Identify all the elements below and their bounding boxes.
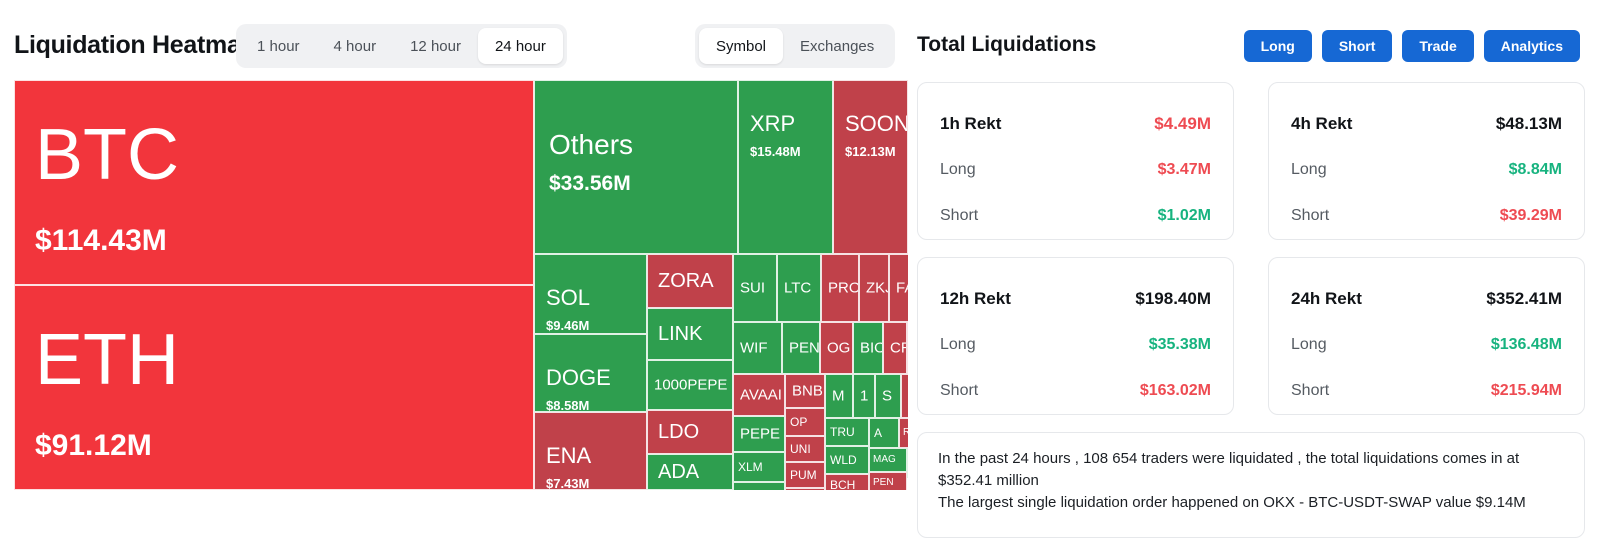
timeframe-selector[interactable]: 1 hour4 hour12 hour24 hour xyxy=(236,24,567,68)
treemap-tile-bch[interactable]: BCH xyxy=(825,474,869,490)
treemap-tile-label: ETH xyxy=(15,324,533,396)
treemap-tile-link[interactable]: LINK xyxy=(647,308,733,360)
treemap-tile-op[interactable]: OP xyxy=(785,408,825,436)
treemap-tile-value: $9.46M xyxy=(535,319,646,332)
treemap-tile-eth[interactable]: ETH$91.12M xyxy=(14,285,534,490)
rekt-card-4h-rekt: 4h Rekt$48.13MLong$8.84MShort$39.29M xyxy=(1268,82,1585,240)
treemap-tile-label: 1 xyxy=(854,389,874,404)
treemap-tile-label: ZKJ xyxy=(860,281,888,296)
stat-row: Long$3.47M xyxy=(940,147,1211,193)
treemap-tile-sw[interactable]: SW xyxy=(907,322,908,374)
treemap-tile-label: ADA xyxy=(648,462,732,482)
long-value: $136.48M xyxy=(1491,336,1562,354)
treemap-tile-mag[interactable]: MAG xyxy=(869,448,907,472)
treemap-tile-label: PEPE xyxy=(734,427,784,442)
treemap-tile-ada[interactable]: ADA xyxy=(647,454,733,490)
short-value: $215.94M xyxy=(1491,382,1562,400)
long-value: $35.38M xyxy=(1149,336,1211,354)
mode-option-exchanges[interactable]: Exchanges xyxy=(783,28,891,64)
rekt-period-label: 4h Rekt xyxy=(1291,114,1352,134)
liquidation-heatmap-page: Liquidation Heatmap 1 hour4 hour12 hour2… xyxy=(0,0,1600,559)
liquidation-summary-card: In the past 24 hours , 108 654 traders w… xyxy=(917,432,1585,538)
treemap-tile-zkj[interactable]: ZKJ xyxy=(859,254,889,322)
treemap-tile-far[interactable]: FAR xyxy=(889,254,908,322)
treemap-tile-zora[interactable]: ZORA xyxy=(647,254,733,308)
treemap-tile-label: 1000PEPE xyxy=(648,378,732,393)
treemap-tile-1[interactable]: 1 xyxy=(853,374,875,418)
page-title: Liquidation Heatmap xyxy=(14,31,256,60)
treemap-tile-label: LDO xyxy=(648,422,732,442)
treemap-tile-m[interactable]: M xyxy=(825,374,853,418)
short-label: Short xyxy=(1291,207,1329,225)
treemap-tile-label: TRU xyxy=(826,426,868,438)
treemap-tile-value: $91.12M xyxy=(15,431,533,461)
treemap-tile-ldo[interactable]: LDO xyxy=(647,410,733,454)
treemap-tile-1000pepe[interactable]: 1000PEPE xyxy=(647,360,733,410)
rekt-total-value: $198.40M xyxy=(1135,289,1211,309)
treemap-tile-label: DOGE xyxy=(535,367,646,389)
rekt-total-value: $48.13M xyxy=(1496,114,1562,134)
page-header: Liquidation Heatmap 1 hour4 hour12 hour2… xyxy=(0,0,1600,78)
treemap-tile-avaai[interactable]: AVAAI xyxy=(733,374,785,416)
short-value: $1.02M xyxy=(1158,207,1211,225)
treemap-tile-pum[interactable]: PUM xyxy=(785,462,825,488)
treemap-tile-label: XRP xyxy=(739,113,832,135)
treemap-tile-value: $15.48M xyxy=(739,145,832,158)
treemap-tile-zro[interactable]: ZRO xyxy=(785,488,825,490)
summary-line-2: The largest single liquidation order hap… xyxy=(938,492,1564,514)
summary-line-1: In the past 24 hours , 108 654 traders w… xyxy=(938,448,1564,492)
total-liquidations-title: Total Liquidations xyxy=(917,33,1096,57)
treemap-tile-label: OG xyxy=(821,341,852,356)
stat-row: 24h Rekt$352.41M xyxy=(1291,276,1562,322)
stat-row: Long$136.48M xyxy=(1291,322,1562,368)
treemap-tile-pro[interactable]: PRO xyxy=(821,254,859,322)
treemap-tile-ltc[interactable]: LTC xyxy=(777,254,821,322)
treemap-tile-s[interactable]: S xyxy=(875,374,901,418)
treemap-tile-label: S xyxy=(876,389,900,404)
treemap-tile-value: $33.56M xyxy=(535,173,737,194)
stat-row: 12h Rekt$198.40M xyxy=(940,276,1211,322)
treemap-tile-label: SUI xyxy=(734,281,776,296)
timeframe-option-1-hour[interactable]: 1 hour xyxy=(240,28,317,64)
rekt-period-label: 1h Rekt xyxy=(940,114,1001,134)
treemap-tile-d[interactable]: D xyxy=(901,374,908,418)
treemap-tile-avax[interactable]: AVAX xyxy=(733,482,785,490)
rekt-card-1h-rekt: 1h Rekt$4.49MLong$3.47MShort$1.02M xyxy=(917,82,1234,240)
treemap-tile-wif[interactable]: WIF xyxy=(733,322,782,374)
treemap-tile-label: PEN xyxy=(870,478,906,488)
trade-button[interactable]: Trade xyxy=(1402,30,1473,62)
treemap-tile-label: WLD xyxy=(826,454,868,466)
short-label: Short xyxy=(940,207,978,225)
long-label: Long xyxy=(1291,161,1327,179)
treemap-tile-label: SOON xyxy=(834,113,907,135)
treemap-tile-label: BTC xyxy=(15,119,533,191)
mode-option-symbol[interactable]: Symbol xyxy=(699,28,783,64)
treemap-tile-label: Others xyxy=(535,131,737,159)
short-button[interactable]: Short xyxy=(1322,30,1393,62)
treemap-tile-label: ZORA xyxy=(648,271,732,291)
rekt-period-label: 12h Rekt xyxy=(940,289,1011,309)
treemap-tile-xrp[interactable]: XRP$15.48M xyxy=(738,80,833,254)
treemap-tile-sui[interactable]: SUI xyxy=(733,254,777,322)
treemap-tile-label: CRV xyxy=(884,341,906,356)
liquidation-treemap[interactable]: BTC$114.43METH$91.12MOthers$33.56MXRP$15… xyxy=(14,80,908,490)
treemap-tile-crv[interactable]: CRV xyxy=(883,322,907,374)
treemap-tile-label: BCH xyxy=(826,479,868,490)
treemap-tile-label: R xyxy=(900,428,908,438)
long-value: $3.47M xyxy=(1158,161,1211,179)
long-label: Long xyxy=(940,161,976,179)
timeframe-option-12-hour[interactable]: 12 hour xyxy=(393,28,478,64)
treemap-tile-r[interactable]: R xyxy=(899,418,908,448)
long-button[interactable]: Long xyxy=(1244,30,1312,62)
treemap-tile-label: PEN xyxy=(783,341,819,356)
treemap-tile-label: AVAAI xyxy=(734,388,784,403)
analytics-button[interactable]: Analytics xyxy=(1484,30,1580,62)
treemap-tile-label: WIF xyxy=(734,341,781,356)
rekt-card-12h-rekt: 12h Rekt$198.40MLong$35.38MShort$163.02M xyxy=(917,257,1234,415)
treemap-tile-tru[interactable]: TRU xyxy=(825,418,869,446)
rekt-total-value: $4.49M xyxy=(1154,114,1211,134)
treemap-tile-bio[interactable]: BIO xyxy=(853,322,883,374)
short-value: $39.29M xyxy=(1500,207,1562,225)
treemap-tile-value: $8.58M xyxy=(535,399,646,412)
treemap-tile-label: UNI xyxy=(786,443,824,455)
rekt-period-label: 24h Rekt xyxy=(1291,289,1362,309)
stat-row: Short$1.02M xyxy=(940,193,1211,239)
rekt-card-24h-rekt: 24h Rekt$352.41MLong$136.48MShort$215.94… xyxy=(1268,257,1585,415)
treemap-tile-value: $7.43M xyxy=(535,477,646,490)
treemap-tile-doge[interactable]: DOGE$8.58M xyxy=(534,334,647,412)
stat-row: Short$39.29M xyxy=(1291,193,1562,239)
long-label: Long xyxy=(940,336,976,354)
treemap-tile-value: $12.13M xyxy=(834,145,907,158)
view-mode-selector[interactable]: SymbolExchanges xyxy=(695,24,895,68)
treemap-tile-bnb[interactable]: BNB xyxy=(785,374,825,408)
treemap-tile-pen2[interactable]: PEN xyxy=(869,472,907,490)
treemap-tile-others[interactable]: Others$33.56M xyxy=(534,80,738,254)
treemap-tile-label: FAR xyxy=(890,281,908,296)
stat-row: Long$8.84M xyxy=(1291,147,1562,193)
treemap-tile-uni[interactable]: UNI xyxy=(785,436,825,462)
short-label: Short xyxy=(1291,382,1329,400)
treemap-tile-label: ENA xyxy=(535,445,646,467)
treemap-tile-pen[interactable]: PEN xyxy=(782,322,820,374)
treemap-tile-label: PUM xyxy=(786,469,824,481)
treemap-tile-sol[interactable]: SOL$9.46M xyxy=(534,254,647,334)
long-value: $8.84M xyxy=(1509,161,1562,179)
treemap-tile-label: SOL xyxy=(535,287,646,309)
action-button-group: LongShortTradeAnalytics xyxy=(1244,30,1580,62)
treemap-tile-label: BNB xyxy=(786,384,824,399)
rekt-total-value: $352.41M xyxy=(1486,289,1562,309)
treemap-tile-label: A xyxy=(870,427,898,439)
treemap-tile-label: OP xyxy=(786,416,824,428)
short-label: Short xyxy=(940,382,978,400)
stat-row: 1h Rekt$4.49M xyxy=(940,101,1211,147)
treemap-tile-og[interactable]: OG xyxy=(820,322,853,374)
treemap-tile-label: LINK xyxy=(648,324,732,344)
treemap-tile-btc[interactable]: BTC$114.43M xyxy=(14,80,534,285)
timeframe-option-24-hour[interactable]: 24 hour xyxy=(478,28,563,64)
treemap-tile-a[interactable]: A xyxy=(869,418,899,448)
stat-row: 4h Rekt$48.13M xyxy=(1291,101,1562,147)
treemap-tile-label: MAG xyxy=(870,455,906,465)
treemap-tile-wld[interactable]: WLD xyxy=(825,446,869,474)
treemap-tile-ena[interactable]: ENA$7.43M xyxy=(534,412,647,490)
treemap-tile-label: BIO xyxy=(854,341,882,356)
treemap-tile-value: $114.43M xyxy=(15,226,533,256)
rekt-stats-panel: 1h Rekt$4.49MLong$3.47MShort$1.02M4h Rek… xyxy=(917,82,1585,417)
treemap-tile-s2[interactable]: S xyxy=(907,448,908,478)
treemap-tile-label: XLM xyxy=(734,461,784,473)
treemap-tile-pepe[interactable]: PEPE xyxy=(733,416,785,452)
treemap-tile-label: M xyxy=(826,389,852,404)
treemap-tile-soon[interactable]: SOON$12.13M xyxy=(833,80,908,254)
treemap-tile-label: D xyxy=(902,389,908,404)
stat-row: Short$163.02M xyxy=(940,368,1211,414)
stat-row: Long$35.38M xyxy=(940,322,1211,368)
treemap-tile-label: PRO xyxy=(822,281,858,296)
treemap-tile-label: LTC xyxy=(778,281,820,296)
short-value: $163.02M xyxy=(1140,382,1211,400)
timeframe-option-4-hour[interactable]: 4 hour xyxy=(317,28,394,64)
long-label: Long xyxy=(1291,336,1327,354)
stat-row: Short$215.94M xyxy=(1291,368,1562,414)
treemap-tile-xlm[interactable]: XLM xyxy=(733,452,785,482)
